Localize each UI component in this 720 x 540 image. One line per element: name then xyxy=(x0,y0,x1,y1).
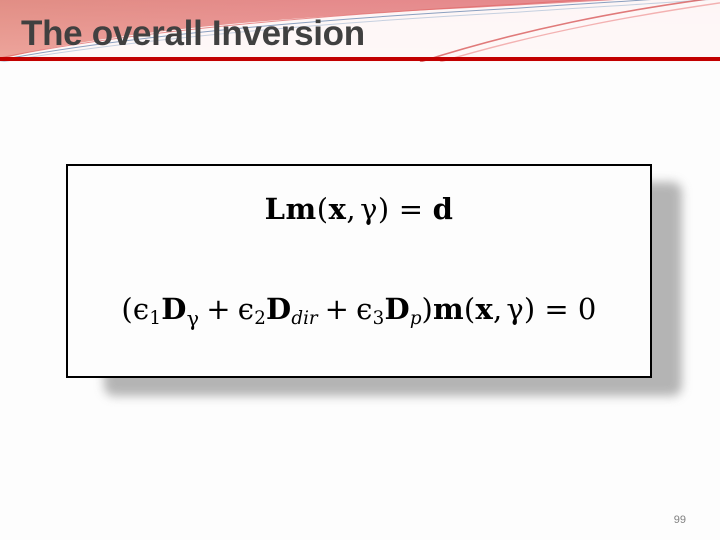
page-number: 99 xyxy=(674,514,686,526)
eq1-x: x xyxy=(329,192,347,226)
eq2-sub-3: 3 xyxy=(373,308,385,329)
eq2-m: m xyxy=(433,292,464,326)
eq2-plus-2: + xyxy=(318,292,357,326)
slide-canvas: The overall Inversion Lm(x,γ)=d (ϵ1Dγ+ϵ2… xyxy=(0,0,720,540)
eq2-epsilon-1: ϵ xyxy=(133,292,149,326)
eq2-D-p: D xyxy=(384,292,409,326)
eq2-comma: , xyxy=(493,292,506,326)
eq1-L: L xyxy=(265,192,286,226)
eq2-plus-1: + xyxy=(199,292,238,326)
eq2-sub-dir: dir xyxy=(291,308,317,329)
equation-box: Lm(x,γ)=d (ϵ1Dγ+ϵ2Ddir+ϵ3Dp)m(x,γ)=0 xyxy=(66,164,652,378)
eq1-m: m xyxy=(286,192,317,226)
eq2-open-paren: ( xyxy=(121,292,133,326)
eq2-sub-p: p xyxy=(410,308,422,329)
eq1-equals: = xyxy=(390,192,433,226)
eq2-close-paren-2: ) xyxy=(524,292,536,326)
eq1-close-paren: ) xyxy=(378,192,390,226)
eq1-gamma: γ xyxy=(360,192,378,226)
page-title: The overall Inversion xyxy=(21,12,365,56)
equation-forward-model: Lm(x,γ)=d xyxy=(265,192,454,226)
eq2-close-paren: ) xyxy=(422,292,434,326)
header-red-rule xyxy=(0,57,720,61)
eq2-gamma: γ xyxy=(506,292,524,326)
eq2-epsilon-3: ϵ xyxy=(356,292,372,326)
eq2-open-paren-2: ( xyxy=(464,292,476,326)
eq2-zero: 0 xyxy=(578,292,597,326)
eq2-D-dir: D xyxy=(266,292,291,326)
eq1-comma: , xyxy=(346,192,360,226)
eq2-epsilon-2: ϵ xyxy=(238,292,254,326)
eq1-d: d xyxy=(433,192,454,226)
eq2-sub-gamma: γ xyxy=(187,306,200,330)
eq2-equals: = xyxy=(535,292,578,326)
eq2-D-gamma: D xyxy=(161,292,186,326)
eq2-sub-2: 2 xyxy=(254,308,266,329)
eq2-x: x xyxy=(475,292,493,326)
eq1-open-paren: ( xyxy=(317,192,329,226)
equation-regularization: (ϵ1Dγ+ϵ2Ddir+ϵ3Dp)m(x,γ)=0 xyxy=(121,292,596,330)
eq2-sub-1: 1 xyxy=(149,308,161,329)
